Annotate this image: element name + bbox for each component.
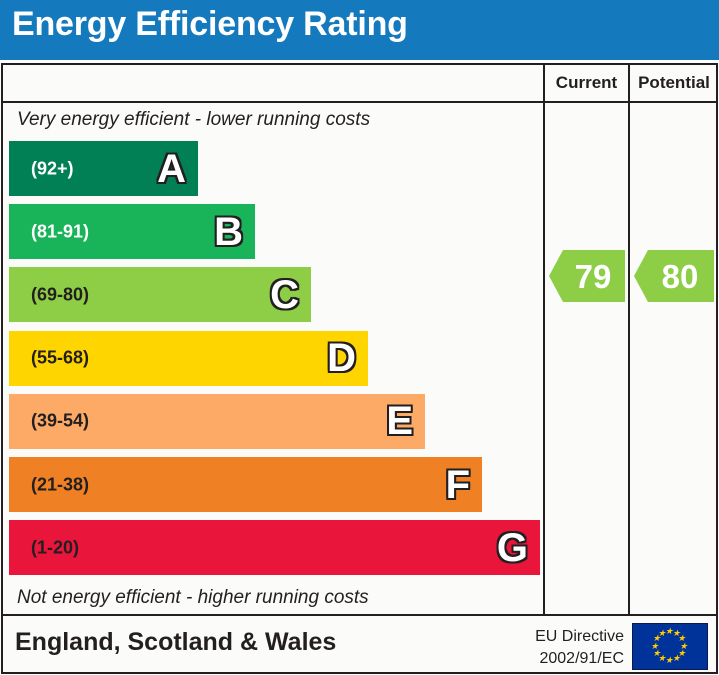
title-bar: Energy Efficiency Rating bbox=[0, 0, 719, 60]
band-a: (92+)A bbox=[9, 141, 198, 196]
eu-directive-line2: 2002/91/EC bbox=[535, 648, 624, 670]
band-range-e: (39-54) bbox=[31, 411, 89, 432]
current-rating-value: 79 bbox=[563, 260, 612, 293]
caption-efficient: Very energy efficient - lower running co… bbox=[17, 109, 370, 131]
band-f: (21-38)F bbox=[9, 457, 482, 512]
band-c: (69-80)C bbox=[9, 267, 311, 322]
eu-flag-icon bbox=[632, 623, 708, 670]
current-rating-arrow: 79 bbox=[549, 250, 625, 302]
band-d: (55-68)D bbox=[9, 331, 368, 386]
rating-table: Current Potential Very energy efficient … bbox=[1, 63, 718, 674]
band-range-b: (81-91) bbox=[31, 221, 89, 242]
region-label: England, Scotland & Wales bbox=[15, 628, 336, 657]
band-range-a: (92+) bbox=[31, 158, 74, 179]
caption-not-efficient: Not energy efficient - higher running co… bbox=[17, 587, 369, 609]
band-letter-a: A bbox=[157, 149, 186, 189]
band-g: (1-20)G bbox=[9, 520, 540, 575]
epc-certificate: Energy Efficiency Rating Current Potenti… bbox=[0, 0, 719, 675]
current-column-divider bbox=[543, 65, 545, 614]
band-e: (39-54)E bbox=[9, 394, 425, 449]
potential-column-header: Potential bbox=[630, 73, 718, 93]
band-letter-b: B bbox=[214, 212, 243, 252]
potential-column-divider bbox=[628, 65, 630, 614]
band-range-c: (69-80) bbox=[31, 284, 89, 305]
band-letter-e: E bbox=[386, 401, 413, 441]
band-letter-f: F bbox=[446, 465, 470, 505]
band-letter-c: C bbox=[270, 275, 299, 315]
current-column-header: Current bbox=[545, 73, 628, 93]
potential-rating-arrow: 80 bbox=[634, 250, 714, 302]
band-range-d: (55-68) bbox=[31, 348, 89, 369]
potential-rating-value: 80 bbox=[650, 260, 699, 293]
band-letter-g: G bbox=[497, 528, 528, 568]
band-range-f: (21-38) bbox=[31, 474, 89, 495]
page-title: Energy Efficiency Rating bbox=[12, 5, 408, 44]
header-divider bbox=[3, 101, 716, 103]
certificate-footer: England, Scotland & Wales EU Directive 2… bbox=[3, 616, 716, 674]
eu-directive-line1: EU Directive bbox=[535, 626, 624, 648]
band-letter-d: D bbox=[327, 338, 356, 378]
band-range-g: (1-20) bbox=[31, 537, 79, 558]
eu-directive-text: EU Directive 2002/91/EC bbox=[535, 626, 624, 669]
band-b: (81-91)B bbox=[9, 204, 255, 259]
